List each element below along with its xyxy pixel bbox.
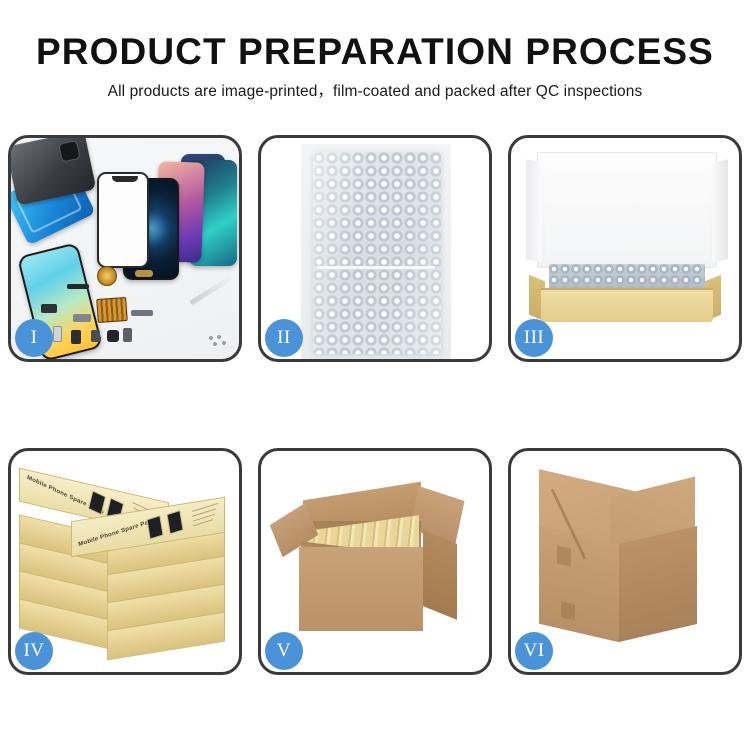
connector-chip-part <box>96 297 128 323</box>
tweezers-icon <box>189 276 232 306</box>
page-subtitle: All products are image-printed，film-coat… <box>0 80 750 104</box>
screws-icon <box>207 334 229 348</box>
step-badge-4: IV <box>15 632 53 670</box>
sim-tray-part <box>53 326 62 342</box>
phone-white-frame <box>97 172 149 268</box>
step-badge-1: I <box>15 319 53 357</box>
small-part-h <box>131 310 153 316</box>
step-badge-3: III <box>515 319 553 357</box>
carton-right-face <box>619 526 697 642</box>
process-step-3: III <box>508 135 742 362</box>
small-part-f <box>123 328 132 342</box>
small-part-c <box>71 330 81 344</box>
step-badge-6: VI <box>515 632 553 670</box>
process-step-2: II <box>258 135 492 362</box>
small-part-j <box>41 304 57 313</box>
gold-contact-part <box>135 270 153 277</box>
small-part-d <box>91 330 100 342</box>
header: PRODUCT PREPARATION PROCESS All products… <box>0 0 750 104</box>
process-step-4: Mobile Phone Spare Parts Mobile Phone Sp… <box>8 448 242 675</box>
screen-thumbnail-d <box>166 510 183 535</box>
bubble-wrap-seam <box>317 266 435 269</box>
box-inner-wall <box>545 168 709 260</box>
camera-module-part <box>107 330 119 342</box>
small-part-b <box>73 314 91 322</box>
speaker-coil-part <box>97 266 117 286</box>
carton-tape-upper <box>557 545 571 566</box>
page-title: PRODUCT PREPARATION PROCESS <box>0 30 750 74</box>
step-badge-5: V <box>265 632 303 670</box>
process-step-6: VI <box>508 448 742 675</box>
process-step-grid: I II III <box>8 135 742 675</box>
screen-thumbnail-c <box>146 515 163 540</box>
flex-cable-part <box>67 284 89 289</box>
carton-side-face <box>423 530 457 620</box>
product-preparation-infographic: PRODUCT PREPARATION PROCESS All products… <box>0 0 750 750</box>
box-label-front: Mobile Phone Spare Parts <box>78 518 157 548</box>
bubble-wrap-sheet <box>313 152 441 354</box>
step-badge-2: II <box>265 319 303 357</box>
box-front-panel <box>541 290 713 322</box>
carton-tape-lower <box>561 601 575 620</box>
process-step-5: V <box>258 448 492 675</box>
process-step-1: I <box>8 135 242 362</box>
carton-front-face <box>299 547 423 631</box>
